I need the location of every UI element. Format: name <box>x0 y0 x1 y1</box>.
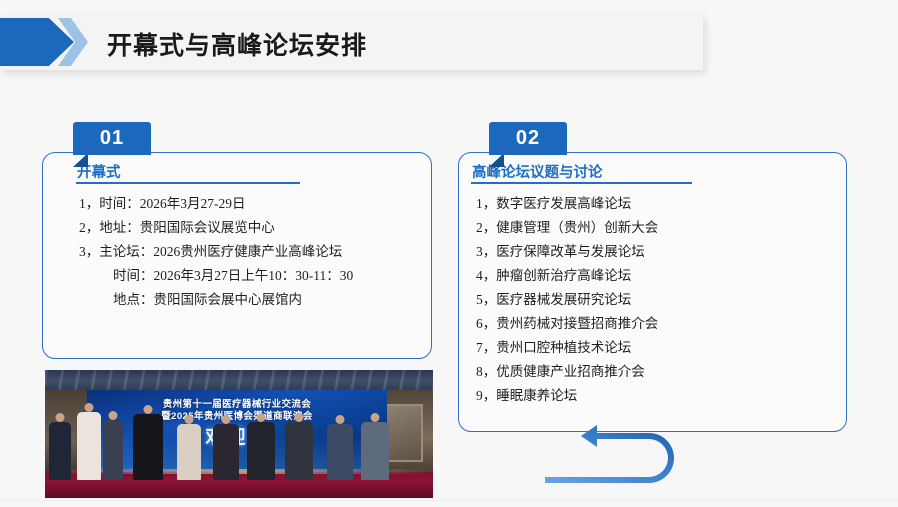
list-item: 4，肿瘤创新治疗高峰论坛 <box>476 264 658 288</box>
card-title-underline-01 <box>76 182 300 184</box>
photo-person <box>285 422 313 480</box>
list-item: 3，主论坛：2026贵州医疗健康产业高峰论坛 <box>79 240 353 264</box>
photo-person <box>213 424 239 480</box>
photo-person <box>77 412 101 480</box>
card-list-02: 1，数字医疗发展高峰论坛2，健康管理（贵州）创新大会3，医疗保障改革与发展论坛4… <box>476 192 658 408</box>
list-item: 3，医疗保障改革与发展论坛 <box>476 240 658 264</box>
list-item: 5，医疗器械发展研究论坛 <box>476 288 658 312</box>
list-item: 1，数字医疗发展高峰论坛 <box>476 192 658 216</box>
list-item: 2，健康管理（贵州）创新大会 <box>476 216 658 240</box>
u-turn-left-arrow-icon <box>545 425 710 487</box>
list-item: 地点：贵阳国际会展中心展馆内 <box>79 288 353 312</box>
list-item: 8，优质健康产业招商推介会 <box>476 360 658 384</box>
list-item: 2，地址：贵阳国际会议展览中心 <box>79 216 353 240</box>
event-photo: 贵州第十一届医疗器械行业交流会 暨2025年贵州医博会渠道商联谊会 欢迎您 <box>45 370 433 498</box>
photo-person <box>133 414 163 480</box>
card-list-01: 1，时间：2026年3月27-29日2，地址：贵阳国际会议展览中心3，主论坛：2… <box>79 192 353 312</box>
list-item: 1，时间：2026年3月27-29日 <box>79 192 353 216</box>
photo-person <box>327 424 353 480</box>
card-title-underline-02 <box>471 182 692 184</box>
photo-person <box>103 420 123 480</box>
photo-person <box>49 422 71 480</box>
badge-number-01: 01 <box>73 122 151 155</box>
list-item: 9，睡眠康养论坛 <box>476 384 658 408</box>
footer-divider <box>0 500 898 501</box>
list-item: 7，贵州口腔种植技术论坛 <box>476 336 658 360</box>
list-item: 时间：2026年3月27日上午10：30-11：30 <box>79 264 353 288</box>
page-title: 开幕式与高峰论坛安排 <box>107 26 367 62</box>
card-title-02: 高峰论坛议题与讨论 <box>472 161 603 182</box>
list-item: 6，贵州药械对接暨招商推介会 <box>476 312 658 336</box>
photo-person <box>247 422 275 480</box>
badge-number-02: 02 <box>489 122 567 155</box>
photo-person <box>177 424 201 480</box>
photo-person <box>361 422 389 480</box>
